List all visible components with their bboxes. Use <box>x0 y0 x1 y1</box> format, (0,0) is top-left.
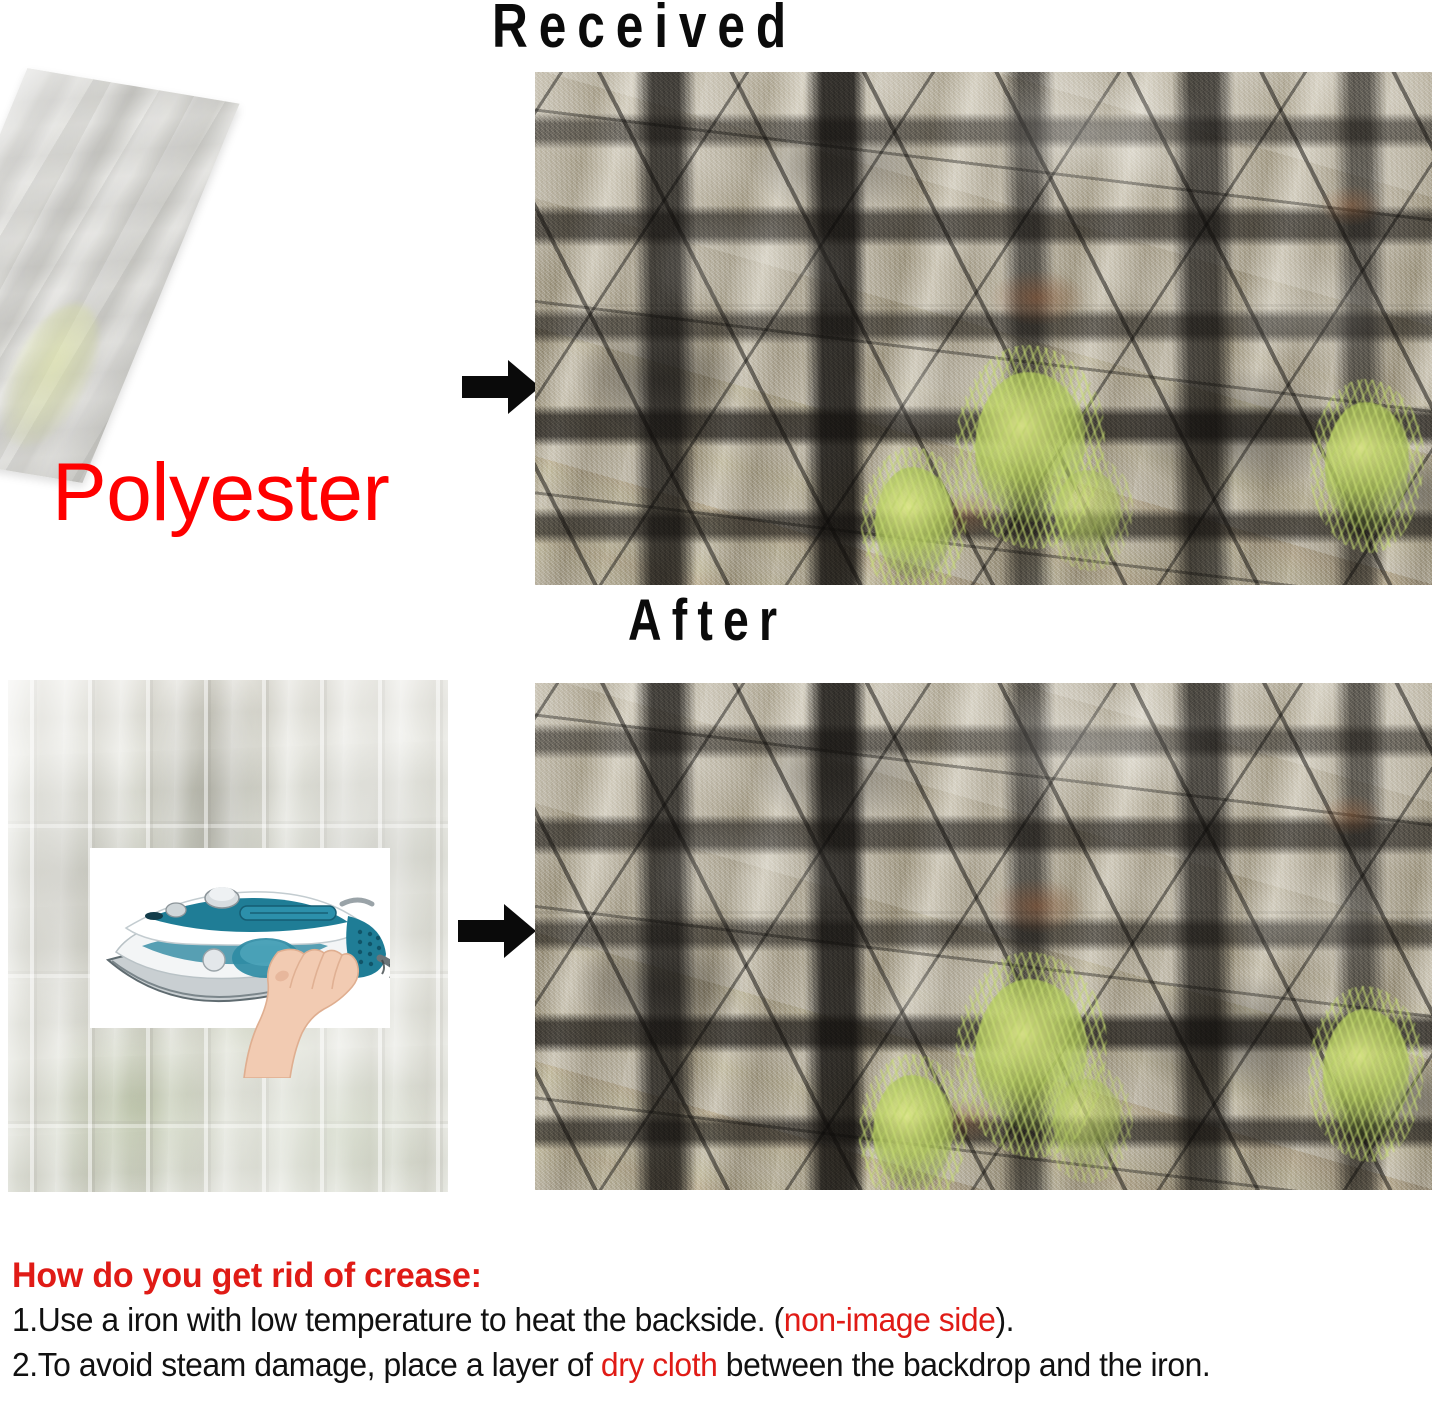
backdrop-photo-received <box>535 72 1432 585</box>
moss-plant <box>1325 402 1409 530</box>
panel-title-after: After <box>628 592 787 650</box>
backdrop-photo-after <box>535 683 1432 1190</box>
care-step-1-text-before: Use a iron with low temperature to heat … <box>38 1301 784 1338</box>
care-instructions-block: How do you get rid of crease: 1.Use a ir… <box>12 1256 1436 1386</box>
care-step-1-highlight: non-image side <box>784 1301 996 1338</box>
fabric-fold-highlight <box>0 68 240 483</box>
care-step-1-text-after: ). <box>995 1301 1014 1338</box>
arrow-right-icon <box>462 358 540 416</box>
care-step-2-number: 2. <box>12 1346 38 1383</box>
arrow-right-icon <box>458 902 536 960</box>
care-step-1-number: 1. <box>12 1301 38 1338</box>
moss-plant <box>1055 470 1121 556</box>
panel-title-received: Received <box>492 0 797 58</box>
moss-plant <box>875 467 953 579</box>
care-step-2: 2.To avoid steam damage, place a layer o… <box>12 1345 1386 1385</box>
care-step-2-text-before: To avoid steam damage, place a layer of <box>38 1346 601 1383</box>
care-instructions-heading: How do you get rid of crease: <box>12 1256 1393 1295</box>
care-step-2-text-after: between the backdrop and the iron. <box>717 1346 1210 1383</box>
care-step-1: 1.Use a iron with low temperature to hea… <box>12 1300 1386 1340</box>
polyester-fabric-swatch <box>0 68 240 483</box>
care-step-2-highlight: dry cloth <box>601 1346 717 1383</box>
moss-plant <box>873 1075 953 1189</box>
moss-plant <box>1053 1079 1121 1167</box>
moss-plant <box>1323 1009 1409 1139</box>
polyester-material-label: Polyester <box>52 452 389 534</box>
ironing-demo-photo <box>90 848 390 1028</box>
